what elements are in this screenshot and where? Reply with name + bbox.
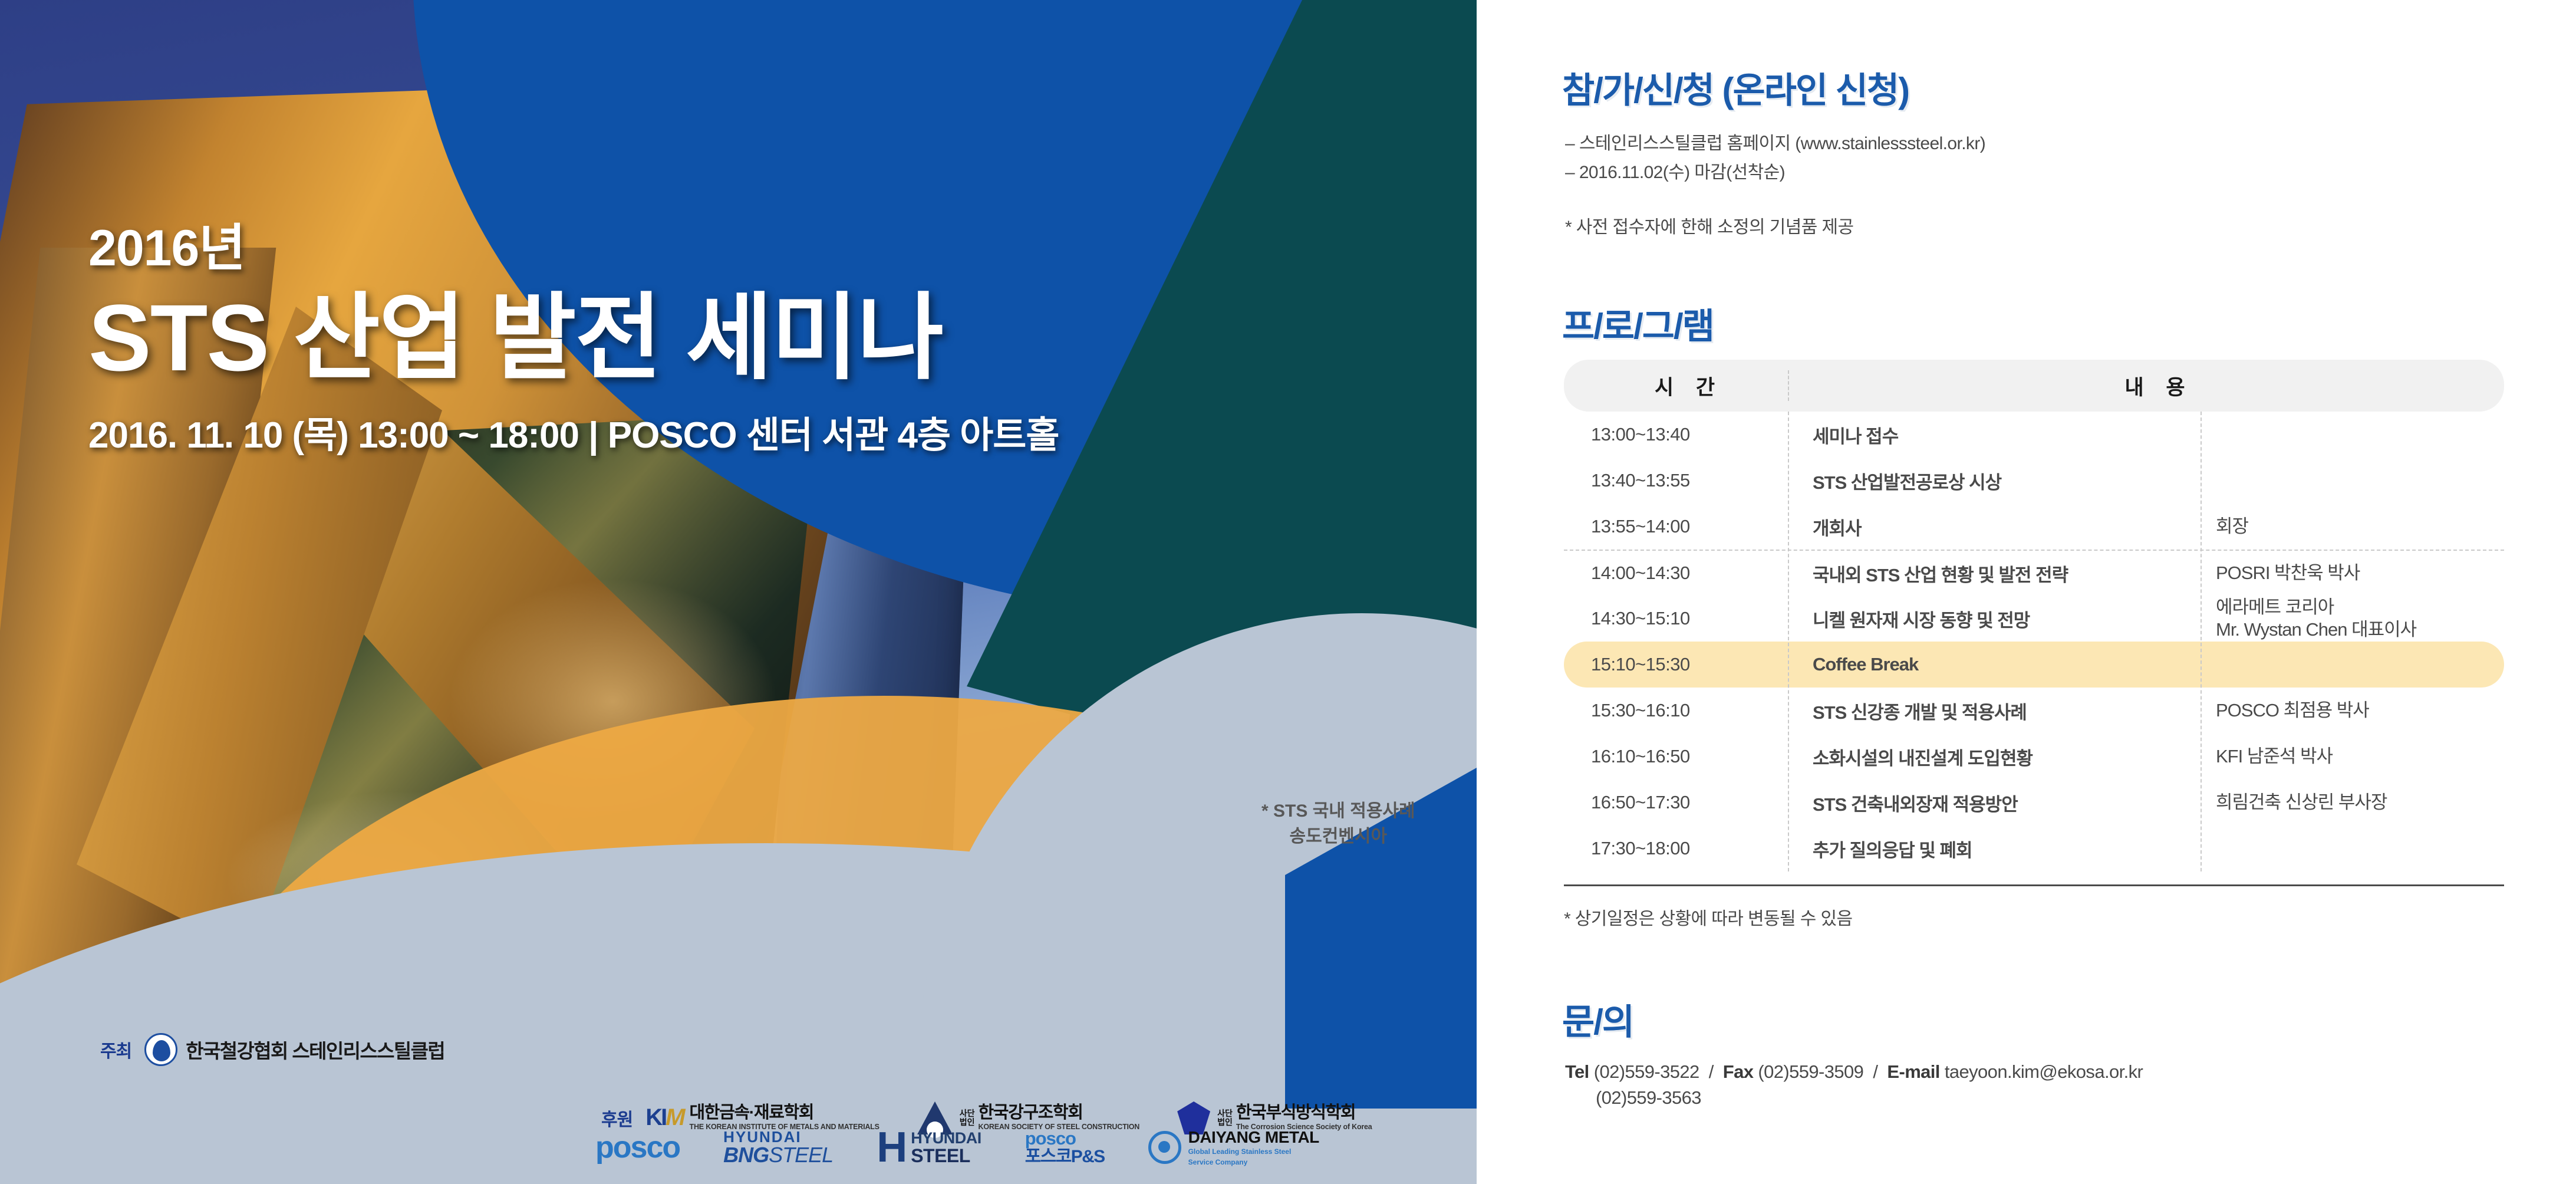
brand-posco: posco — [595, 1130, 680, 1165]
program-row-time: 15:30~16:10 — [1564, 700, 1788, 721]
inquiry-lines: Tel (02)559-3522 / Fax (02)559-3509 / E-… — [1565, 1061, 2143, 1109]
program-row-title: 개회사 — [1788, 514, 2201, 540]
brand-posco-pns: posco 포스코P&S — [1025, 1129, 1105, 1166]
program-row: 13:40~13:55STS 산업발전공로상 시상 — [1564, 458, 2504, 504]
apply-lines: – 스테인리스스틸클럽 홈페이지 (www.stainlesssteel.or.… — [1565, 130, 1985, 187]
program-divider-1 — [1788, 412, 1789, 871]
program-row: 14:30~15:10니켈 원자재 시장 동향 및 전망에라메트 코리아 Mr.… — [1564, 596, 2504, 642]
program-row-title: 추가 질의응답 및 폐회 — [1788, 836, 2201, 862]
poster-footer: 주최 한국철강협회 스테인리스스틸클럽 후원 KIM 대한금속·재료학회 THE… — [0, 1013, 1477, 1184]
program-row: 15:10~15:30Coffee Break — [1564, 642, 2504, 688]
program-row-title: STS 산업발전공로상 시상 — [1788, 468, 2201, 494]
poster-right-panel: 참/가/신/청 (온라인 신청) – 스테인리스스틸클럽 홈페이지 (www.s… — [1477, 0, 2576, 1184]
apply-line-website: – 스테인리스스틸클럽 홈페이지 (www.stainlesssteel.or.… — [1565, 130, 1985, 159]
program-row-title: STS 건축내외장재 적용방안 — [1788, 790, 2201, 816]
poster-left-panel: 2016년 STS 산업 발전 세미나 2016. 11. 10 (목) 13:… — [0, 0, 1477, 1184]
posco-pns-logo-icon: posco 포스코P&S — [1025, 1129, 1105, 1166]
program-row: 15:30~16:10STS 신강종 개발 및 적용사례POSCO 최점용 박사 — [1564, 688, 2504, 734]
sponsor-kssc-name: 한국강구조학회 — [979, 1103, 1083, 1122]
program-row-time: 13:40~13:55 — [1564, 470, 1788, 491]
inquiry-sep-1: / — [1709, 1061, 1714, 1082]
poster-title: STS 산업 발전 세미나 — [88, 288, 1059, 387]
program-row-time: 16:10~16:50 — [1564, 746, 1788, 767]
steel-word: STEEL — [911, 1145, 970, 1166]
inquiry-email-label: E-mail — [1887, 1061, 1939, 1082]
inquiry-fax: (02)559-3509 — [1758, 1061, 1863, 1082]
program-heading: 프/로/그/램 — [1562, 298, 1714, 349]
poster-title-block: 2016년 STS 산업 발전 세미나 2016. 11. 10 (목) 13:… — [88, 206, 1059, 458]
program-row: 16:10~16:50소화시설의 내진설계 도입현황KFI 남준석 박사 — [1564, 734, 2504, 780]
program-row-title: 소화시설의 내진설계 도입현황 — [1788, 744, 2201, 770]
inquiry-fax-label: Fax — [1723, 1061, 1754, 1082]
hyundai-steel-h-icon: H — [877, 1131, 907, 1165]
program-row-speaker: KFI 남준석 박사 — [2201, 745, 2504, 768]
daiyang-target-icon — [1148, 1131, 1181, 1164]
program-table: 시 간 내 용 13:00~13:40세미나 접수13:40~13:55STS … — [1564, 360, 2504, 930]
program-bottom-rule — [1564, 884, 2504, 886]
kssc-corporate-badge: 사단법인 — [960, 1109, 975, 1126]
kim-logo-icon: KIM — [645, 1104, 683, 1131]
program-table-body: 13:00~13:40세미나 접수13:40~13:55STS 산업발전공로상 … — [1564, 412, 2504, 871]
inquiry-tel-secondary: (02)559-3563 — [1565, 1087, 2143, 1109]
program-row: 17:30~18:00추가 질의응답 및 폐회 — [1564, 825, 2504, 871]
program-row-speaker: 희림건축 신상린 부사장 — [2201, 791, 2504, 814]
brand-hyundai-steel: H HYUNDAI STEEL — [877, 1130, 981, 1165]
host-label: 주최 — [100, 1037, 131, 1063]
program-row-speaker: 에라메트 코리아 Mr. Wystan Chen 대표이사 — [2201, 596, 2504, 641]
program-row-time: 14:30~15:10 — [1564, 608, 1788, 629]
program-row: 13:55~14:00개회사회장 — [1564, 504, 2504, 550]
cssk-corporate-badge: 사단법인 — [1217, 1109, 1233, 1126]
posco-logo-icon: posco — [595, 1130, 680, 1165]
inquiry-sep-2: / — [1873, 1061, 1877, 1082]
poster-year: 2016년 — [88, 206, 1059, 280]
daiyang-tagline-1: Global Leading Stainless Steel — [1188, 1147, 1292, 1156]
program-row: 13:00~13:40세미나 접수 — [1564, 412, 2504, 458]
pns-posco-word: posco — [1025, 1128, 1076, 1149]
apply-line-deadline: – 2016.11.02(수) 마감(선착순) — [1565, 159, 1985, 188]
program-row-speaker: 회장 — [2201, 515, 2504, 538]
photo-caption: * STS 국내 적용사례 송도컨벤시아 — [1261, 799, 1415, 849]
program-row-time: 17:30~18:00 — [1564, 838, 1788, 859]
host-row: 주최 한국철강협회 스테인리스스틸클럽 — [100, 1033, 495, 1066]
poster-subtitle: 2016. 11. 10 (목) 13:00 ~ 18:00 | POSCO 센… — [88, 405, 1059, 458]
program-row-time: 15:10~15:30 — [1564, 654, 1788, 675]
host-org-name: 한국철강협회 스테인리스스틸클럽 — [186, 1035, 444, 1064]
program-divider-2 — [2201, 412, 2202, 871]
program-note: * 상기일정은 상황에 따라 변동될 수 있음 — [1564, 904, 2504, 930]
hyundai-word: HYUNDAI — [911, 1129, 981, 1147]
daiyang-tagline-2: Service Company — [1188, 1158, 1248, 1166]
bng-word: BNG — [723, 1143, 769, 1167]
inquiry-email[interactable]: taeyoon.kim@ekosa.or.kr — [1945, 1061, 2143, 1082]
program-row-time: 16:50~17:30 — [1564, 792, 1788, 813]
bng-steel-word: STEEL — [769, 1143, 833, 1167]
program-row-title: 세미나 접수 — [1788, 422, 2201, 448]
program-col-content: 내 용 — [1806, 371, 2504, 401]
program-row-speaker: POSCO 최점용 박사 — [2201, 699, 2504, 722]
program-row-speaker: POSRI 박찬욱 박사 — [2201, 562, 2504, 584]
program-col-time: 시 간 — [1564, 371, 1806, 401]
program-row-title: STS 신강종 개발 및 적용사례 — [1788, 698, 2201, 724]
apply-note: * 사전 접수자에 한해 소정의 기념품 제공 — [1565, 212, 1854, 238]
program-row: 14:00~14:30국내외 STS 산업 현황 및 발전 전략POSRI 박찬… — [1564, 550, 2504, 596]
pns-korean-word: 포스코P&S — [1025, 1147, 1105, 1166]
sponsor-label: 후원 — [601, 1105, 633, 1131]
program-row-time: 13:00~13:40 — [1564, 424, 1788, 445]
daiyang-name: DAIYANG METAL — [1188, 1128, 1319, 1146]
brand-bng-steel: HYUNDAI BNGSTEEL — [723, 1129, 833, 1166]
program-row-time: 13:55~14:00 — [1564, 516, 1788, 537]
host-org: 한국철강협회 스테인리스스틸클럽 — [144, 1033, 444, 1066]
program-row-time: 14:00~14:30 — [1564, 563, 1788, 584]
program-row-title: Coffee Break — [1788, 654, 2201, 675]
brand-daiyang-metal: DAIYANG METAL Global Leading Stainless S… — [1148, 1128, 1319, 1167]
inquiry-tel: (02)559-3522 — [1594, 1061, 1699, 1082]
photo-caption-line1: * STS 국내 적용사례 — [1261, 799, 1415, 824]
apply-heading: 참/가/신/청 (온라인 신청) — [1562, 62, 1909, 113]
program-row: 16:50~17:30STS 건축내외장재 적용방안희림건축 신상린 부사장 — [1564, 780, 2504, 825]
bng-steel-logo-icon: HYUNDAI BNGSTEEL — [723, 1129, 833, 1166]
inquiry-contact-line: Tel (02)559-3522 / Fax (02)559-3509 / E-… — [1565, 1061, 2143, 1083]
steel-association-seal-icon — [144, 1033, 177, 1066]
program-row-title: 니켈 원자재 시장 동향 및 전망 — [1788, 606, 2201, 632]
sponsor-kim-name: 대한금속·재료학회 — [690, 1103, 814, 1122]
inquiry-heading: 문/의 — [1562, 994, 1633, 1045]
sponsor-cssk-name: 한국부식방식학회 — [1236, 1103, 1355, 1122]
inquiry-tel-label: Tel — [1565, 1061, 1589, 1082]
program-table-header: 시 간 내 용 — [1564, 360, 2504, 412]
photo-caption-line2: 송도컨벤시아 — [1261, 824, 1415, 850]
program-row-title: 국내외 STS 산업 현황 및 발전 전략 — [1788, 560, 2201, 587]
brand-logo-row: posco HYUNDAI BNGSTEEL H HYUNDAI STEEL p… — [595, 1128, 1363, 1167]
